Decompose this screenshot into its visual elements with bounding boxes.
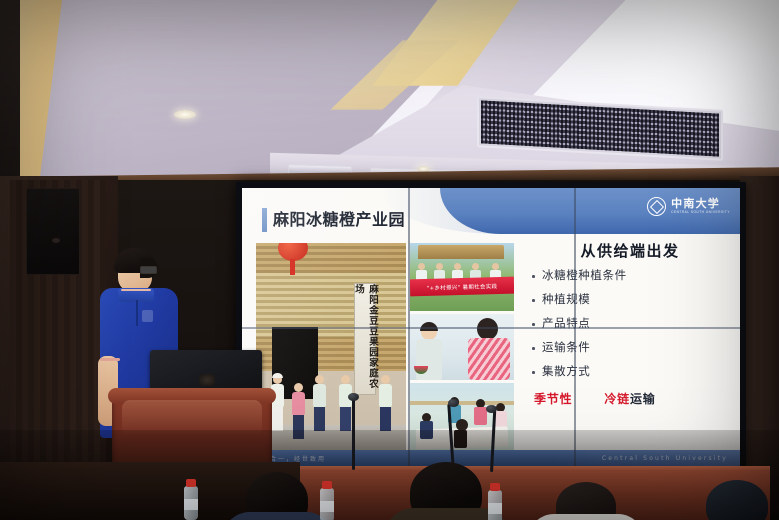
photo-column-right: "+乡村振兴" 暑期社会实践 bbox=[410, 243, 514, 453]
gooseneck-microphone[interactable] bbox=[352, 398, 355, 470]
microphone-head bbox=[348, 393, 359, 401]
lecture-hall-scene: 中南大学 CENTRAL SOUTH UNIVERSITY 麻阳冰糖橙产业园 bbox=[0, 0, 779, 520]
presenter-shirt-logo bbox=[142, 310, 153, 322]
recessed-downlight bbox=[174, 110, 196, 119]
bullet-item: 冰糖橙种植条件 bbox=[542, 270, 730, 282]
vertical-shop-sign: 麻阳金豆豆果园家庭农场 bbox=[354, 283, 376, 395]
bullet-item: 运输条件 bbox=[542, 342, 730, 354]
red-banner: "+乡村振兴" 暑期社会实践 bbox=[410, 277, 514, 297]
audience-shoulders bbox=[528, 514, 644, 520]
photo-person bbox=[338, 375, 353, 431]
photo-storefront: 麻阳金豆豆果园家庭农场 bbox=[256, 243, 406, 453]
emphasis-line: 季节性 冷链运输 bbox=[530, 390, 730, 407]
emphasis-transport: 运输 bbox=[630, 392, 656, 406]
glasses-icon bbox=[140, 266, 157, 274]
photo-person bbox=[474, 399, 487, 425]
logo-name-en: CENTRAL SOUTH UNIVERSITY bbox=[671, 211, 730, 214]
photo-interview bbox=[410, 314, 514, 380]
slide-heading: 从供给端出发 bbox=[530, 240, 730, 261]
microphone-head bbox=[448, 399, 459, 407]
photo-person bbox=[270, 375, 285, 431]
video-wall-bezel-horizontal bbox=[242, 327, 740, 329]
emphasis-seasonality: 季节性 bbox=[534, 392, 572, 406]
photo-group-banner: "+乡村振兴" 暑期社会实践 bbox=[410, 243, 514, 311]
bullet-item: 种植规模 bbox=[542, 294, 730, 306]
slide-text-column: 从供给端出发 冰糖橙种植条件 种植规模 产品特点 运输条件 集散方式 季节性 冷… bbox=[530, 240, 730, 407]
vent-grille bbox=[481, 100, 719, 156]
slide-title: 麻阳冰糖橙产业园 bbox=[273, 208, 405, 232]
ceiling bbox=[0, 0, 779, 186]
csu-seal-icon bbox=[647, 197, 666, 216]
photo-person bbox=[312, 375, 327, 431]
wall-speaker bbox=[26, 188, 80, 275]
ceiling-edge-shadow bbox=[0, 0, 20, 192]
water-bottle[interactable] bbox=[488, 490, 502, 520]
photo-collage: 麻阳金豆豆果园家庭农场 bbox=[256, 243, 516, 453]
presenter-placket bbox=[136, 300, 138, 326]
shop-sign-text: 麻阳金豆豆果园家庭农场 bbox=[351, 284, 379, 394]
logo-name-cn: 中南大学 bbox=[671, 198, 730, 209]
logo-text: 中南大学 CENTRAL SOUTH UNIVERSITY bbox=[671, 198, 730, 214]
presenter-sleeve-trim bbox=[100, 358, 120, 361]
photo-person bbox=[291, 383, 306, 433]
conference-desk bbox=[300, 470, 770, 520]
video-wall[interactable]: 中南大学 CENTRAL SOUTH UNIVERSITY 麻阳冰糖橙产业园 bbox=[236, 182, 746, 472]
water-bottle[interactable] bbox=[184, 486, 198, 520]
bullet-list: 冰糖橙种植条件 种植规模 产品特点 运输条件 集散方式 bbox=[530, 270, 730, 378]
pavilion-roof bbox=[418, 245, 504, 259]
banner-text: "+乡村振兴" 暑期社会实践 bbox=[427, 282, 498, 292]
photo-person bbox=[378, 375, 393, 431]
video-wall-screen[interactable]: 中南大学 CENTRAL SOUTH UNIVERSITY 麻阳冰糖橙产业园 bbox=[242, 188, 740, 466]
bullet-item: 集散方式 bbox=[542, 366, 730, 378]
microphone-head bbox=[486, 405, 497, 413]
water-bottle[interactable] bbox=[320, 488, 334, 520]
university-logo: 中南大学 CENTRAL SOUTH UNIVERSITY bbox=[647, 197, 730, 216]
title-accent-bar bbox=[262, 208, 267, 232]
emphasis-coldchain: 冷链 bbox=[604, 392, 630, 406]
